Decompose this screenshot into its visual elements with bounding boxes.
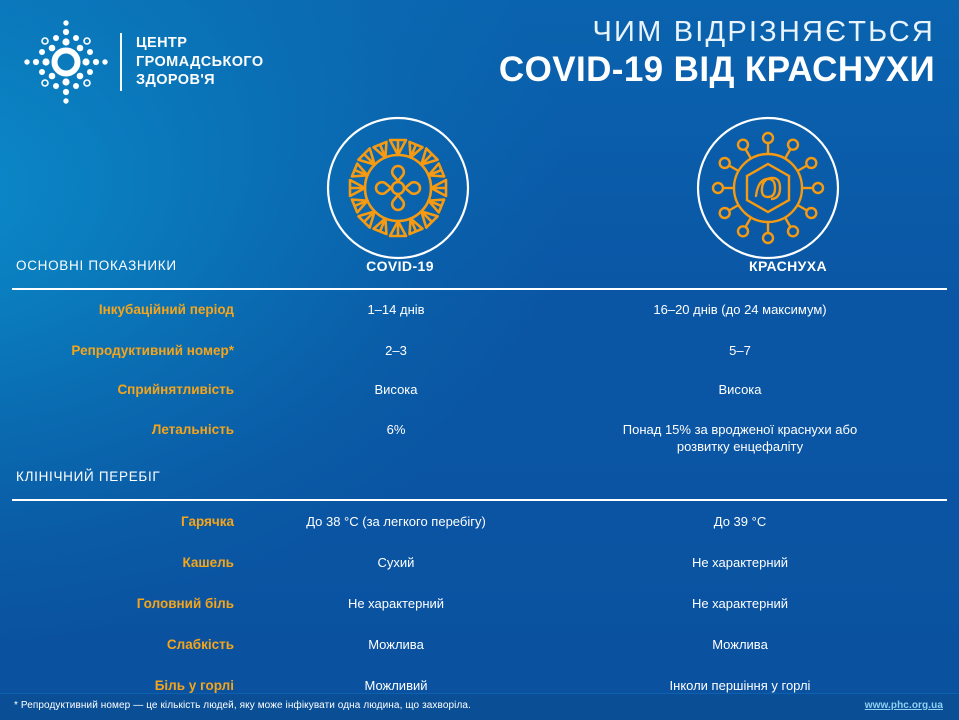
row-value-covid: 6% (252, 422, 540, 439)
footer-bar: * Репродуктивний номер — це кількість лю… (0, 693, 959, 720)
row-label: Гарячка (0, 514, 252, 530)
row-label: Слабкість (0, 637, 252, 653)
row-value-covid: Висока (252, 382, 540, 399)
section1-title: ОСНОВНІ ПОКАЗНИКИ (16, 258, 177, 273)
row-label: Головний біль (0, 596, 252, 612)
row-value-covid: Можлива (252, 637, 540, 654)
coronavirus-icon (324, 114, 472, 262)
phc-radial-dots-logo-icon (18, 16, 114, 108)
row-value-covid: До 38 °C (за легкого перебігу) (252, 514, 540, 531)
title-line-1: ЧИМ ВІДРІЗНЯЄТЬСЯ (499, 16, 935, 48)
divider-line-1 (12, 288, 947, 290)
row-value-covid: Сухий (252, 555, 540, 572)
row-value-rubella: 5–7 (540, 343, 940, 360)
table-row: Інкубаційний період 1–14 днів 16–20 днів… (0, 302, 959, 330)
row-label: Інкубаційний період (0, 302, 252, 318)
section-header-clinical: КЛІНІЧНИЙ ПЕРЕБІГ (0, 469, 959, 495)
table-row: Сприйнятливість Висока Висока (0, 382, 959, 410)
row-value-rubella: Не характерний (540, 596, 940, 613)
divider-line-2 (12, 499, 947, 501)
table-row: Гарячка До 38 °C (за легкого перебігу) Д… (0, 514, 959, 542)
row-value-rubella: Не характерний (540, 555, 940, 572)
column-header-covid: COVID-19 (260, 258, 540, 274)
row-value-rubella: Понад 15% за вродженої краснухи або розв… (540, 422, 940, 455)
table-row: Репродуктивний номер* 2–3 5–7 (0, 343, 959, 371)
row-value-rubella: Можлива (540, 637, 940, 654)
brand-logo: ЦЕНТР ГРОМАДСЬКОГО ЗДОРОВ'Я (18, 16, 264, 108)
section-header-main: ОСНОВНІ ПОКАЗНИКИ COVID-19 КРАСНУХА (0, 258, 959, 284)
row-label: Сприйнятливість (0, 382, 252, 398)
header: ЦЕНТР ГРОМАДСЬКОГО ЗДОРОВ'Я ЧИМ ВІДРІЗНЯ… (0, 0, 959, 112)
infographic-page: ЦЕНТР ГРОМАДСЬКОГО ЗДОРОВ'Я ЧИМ ВІДРІЗНЯ… (0, 0, 959, 720)
table-row: Кашель Сухий Не характерний (0, 555, 959, 583)
footnote-text: * Репродуктивний номер — це кількість лю… (14, 700, 471, 711)
column-header-rubella: КРАСНУХА (620, 258, 956, 274)
website-url-link[interactable]: www.phc.org.ua (865, 700, 943, 711)
row-value-covid: Не характерний (252, 596, 540, 613)
table-row: Головний біль Не характерний Не характер… (0, 596, 959, 624)
logo-divider (120, 33, 122, 91)
table-row: Летальність 6% Понад 15% за вродженої кр… (0, 422, 959, 455)
row-value-rubella: Висока (540, 382, 940, 399)
row-value-covid: 1–14 днів (252, 302, 540, 319)
comparison-table: ОСНОВНІ ПОКАЗНИКИ COVID-19 КРАСНУХА Інку… (0, 258, 959, 720)
row-label: Летальність (0, 422, 252, 438)
brand-name: ЦЕНТР ГРОМАДСЬКОГО ЗДОРОВ'Я (136, 34, 264, 90)
title-line-2: COVID-19 ВІД КРАСНУХИ (499, 50, 935, 91)
row-label: Кашель (0, 555, 252, 571)
row-label: Репродуктивний номер* (0, 343, 252, 359)
section2-title: КЛІНІЧНИЙ ПЕРЕБІГ (16, 469, 160, 484)
row-value-rubella: 16–20 днів (до 24 максимум) (540, 302, 940, 319)
row-value-covid: 2–3 (252, 343, 540, 360)
rubella-virus-icon (694, 114, 842, 262)
table-row: Слабкість Можлива Можлива (0, 637, 959, 665)
row-value-rubella: До 39 °C (540, 514, 940, 531)
title-block: ЧИМ ВІДРІЗНЯЄТЬСЯ COVID-19 ВІД КРАСНУХИ (499, 16, 935, 91)
